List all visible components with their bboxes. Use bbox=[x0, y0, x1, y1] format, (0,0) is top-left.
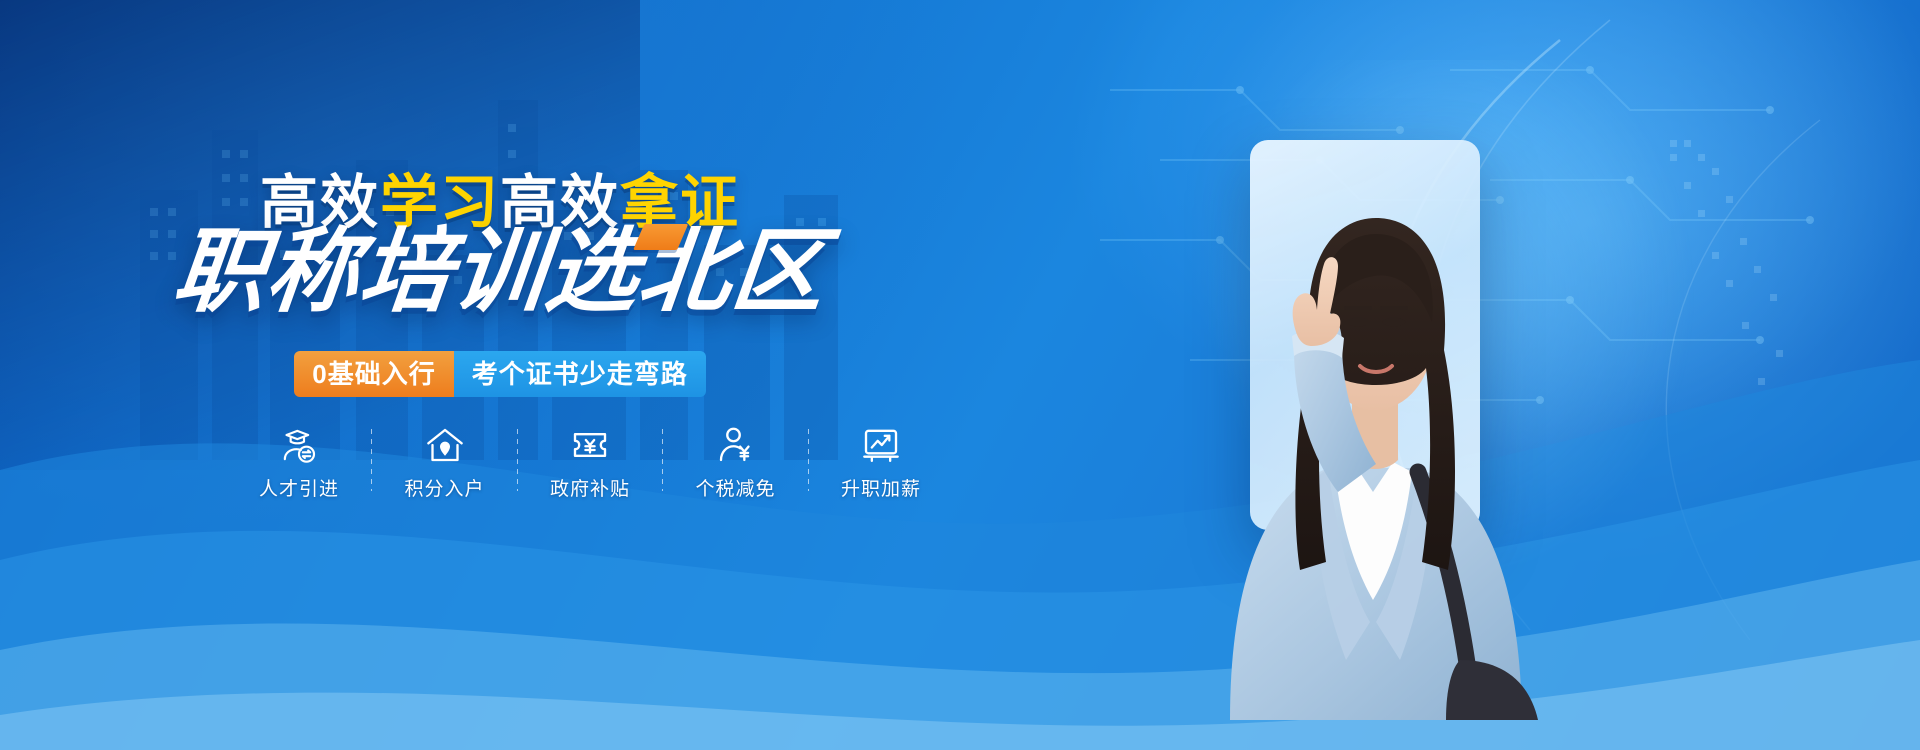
promo-banner: 高效学习高效拿证 职称培训选北区 0基础入行考个证书少走弯路 bbox=[0, 0, 1920, 750]
feature-list: 人才引进 积分入户 bbox=[240, 425, 940, 515]
badge-primary: 0基础入行 bbox=[294, 351, 453, 397]
badge-row: 0基础入行考个证书少走弯路 bbox=[0, 351, 1000, 397]
feature-divider-2 bbox=[517, 429, 518, 491]
feature-item-points[interactable]: 积分入户 bbox=[386, 425, 504, 501]
model-photo-zone bbox=[1190, 100, 1690, 750]
feature-label-subsidy: 政府补贴 bbox=[550, 474, 630, 501]
model-illustration bbox=[1160, 100, 1580, 720]
feature-item-subsidy[interactable]: 政府补贴 bbox=[531, 425, 649, 501]
main-headline-wrap: 职称培训选北区 bbox=[0, 218, 1000, 328]
feature-divider-4 bbox=[808, 429, 809, 491]
main-headline-text: 职称培训选北区 bbox=[169, 221, 831, 323]
graduate-exchange-icon bbox=[279, 425, 319, 465]
main-headline: 职称培训选北区 bbox=[169, 218, 831, 326]
feature-divider-3 bbox=[662, 429, 663, 491]
badge-secondary: 考个证书少走弯路 bbox=[454, 351, 706, 397]
feature-divider-1 bbox=[371, 429, 372, 491]
feature-label-talent: 人才引进 bbox=[259, 474, 339, 501]
feature-item-talent[interactable]: 人才引进 bbox=[240, 425, 358, 501]
feature-label-tax: 个税减免 bbox=[695, 474, 775, 501]
feature-label-promotion: 升职加薪 bbox=[841, 474, 921, 501]
person-yuan-icon bbox=[716, 425, 756, 465]
subsidy-ticket-icon bbox=[570, 425, 610, 465]
feature-item-tax[interactable]: 个税减免 bbox=[677, 425, 795, 501]
headline-block: 高效学习高效拿证 职称培训选北区 0基础入行考个证书少走弯路 bbox=[0, 0, 1000, 750]
house-pin-icon bbox=[425, 425, 465, 465]
feature-label-points: 积分入户 bbox=[404, 474, 484, 501]
growth-board-icon bbox=[861, 425, 901, 465]
feature-item-promotion[interactable]: 升职加薪 bbox=[822, 425, 940, 501]
